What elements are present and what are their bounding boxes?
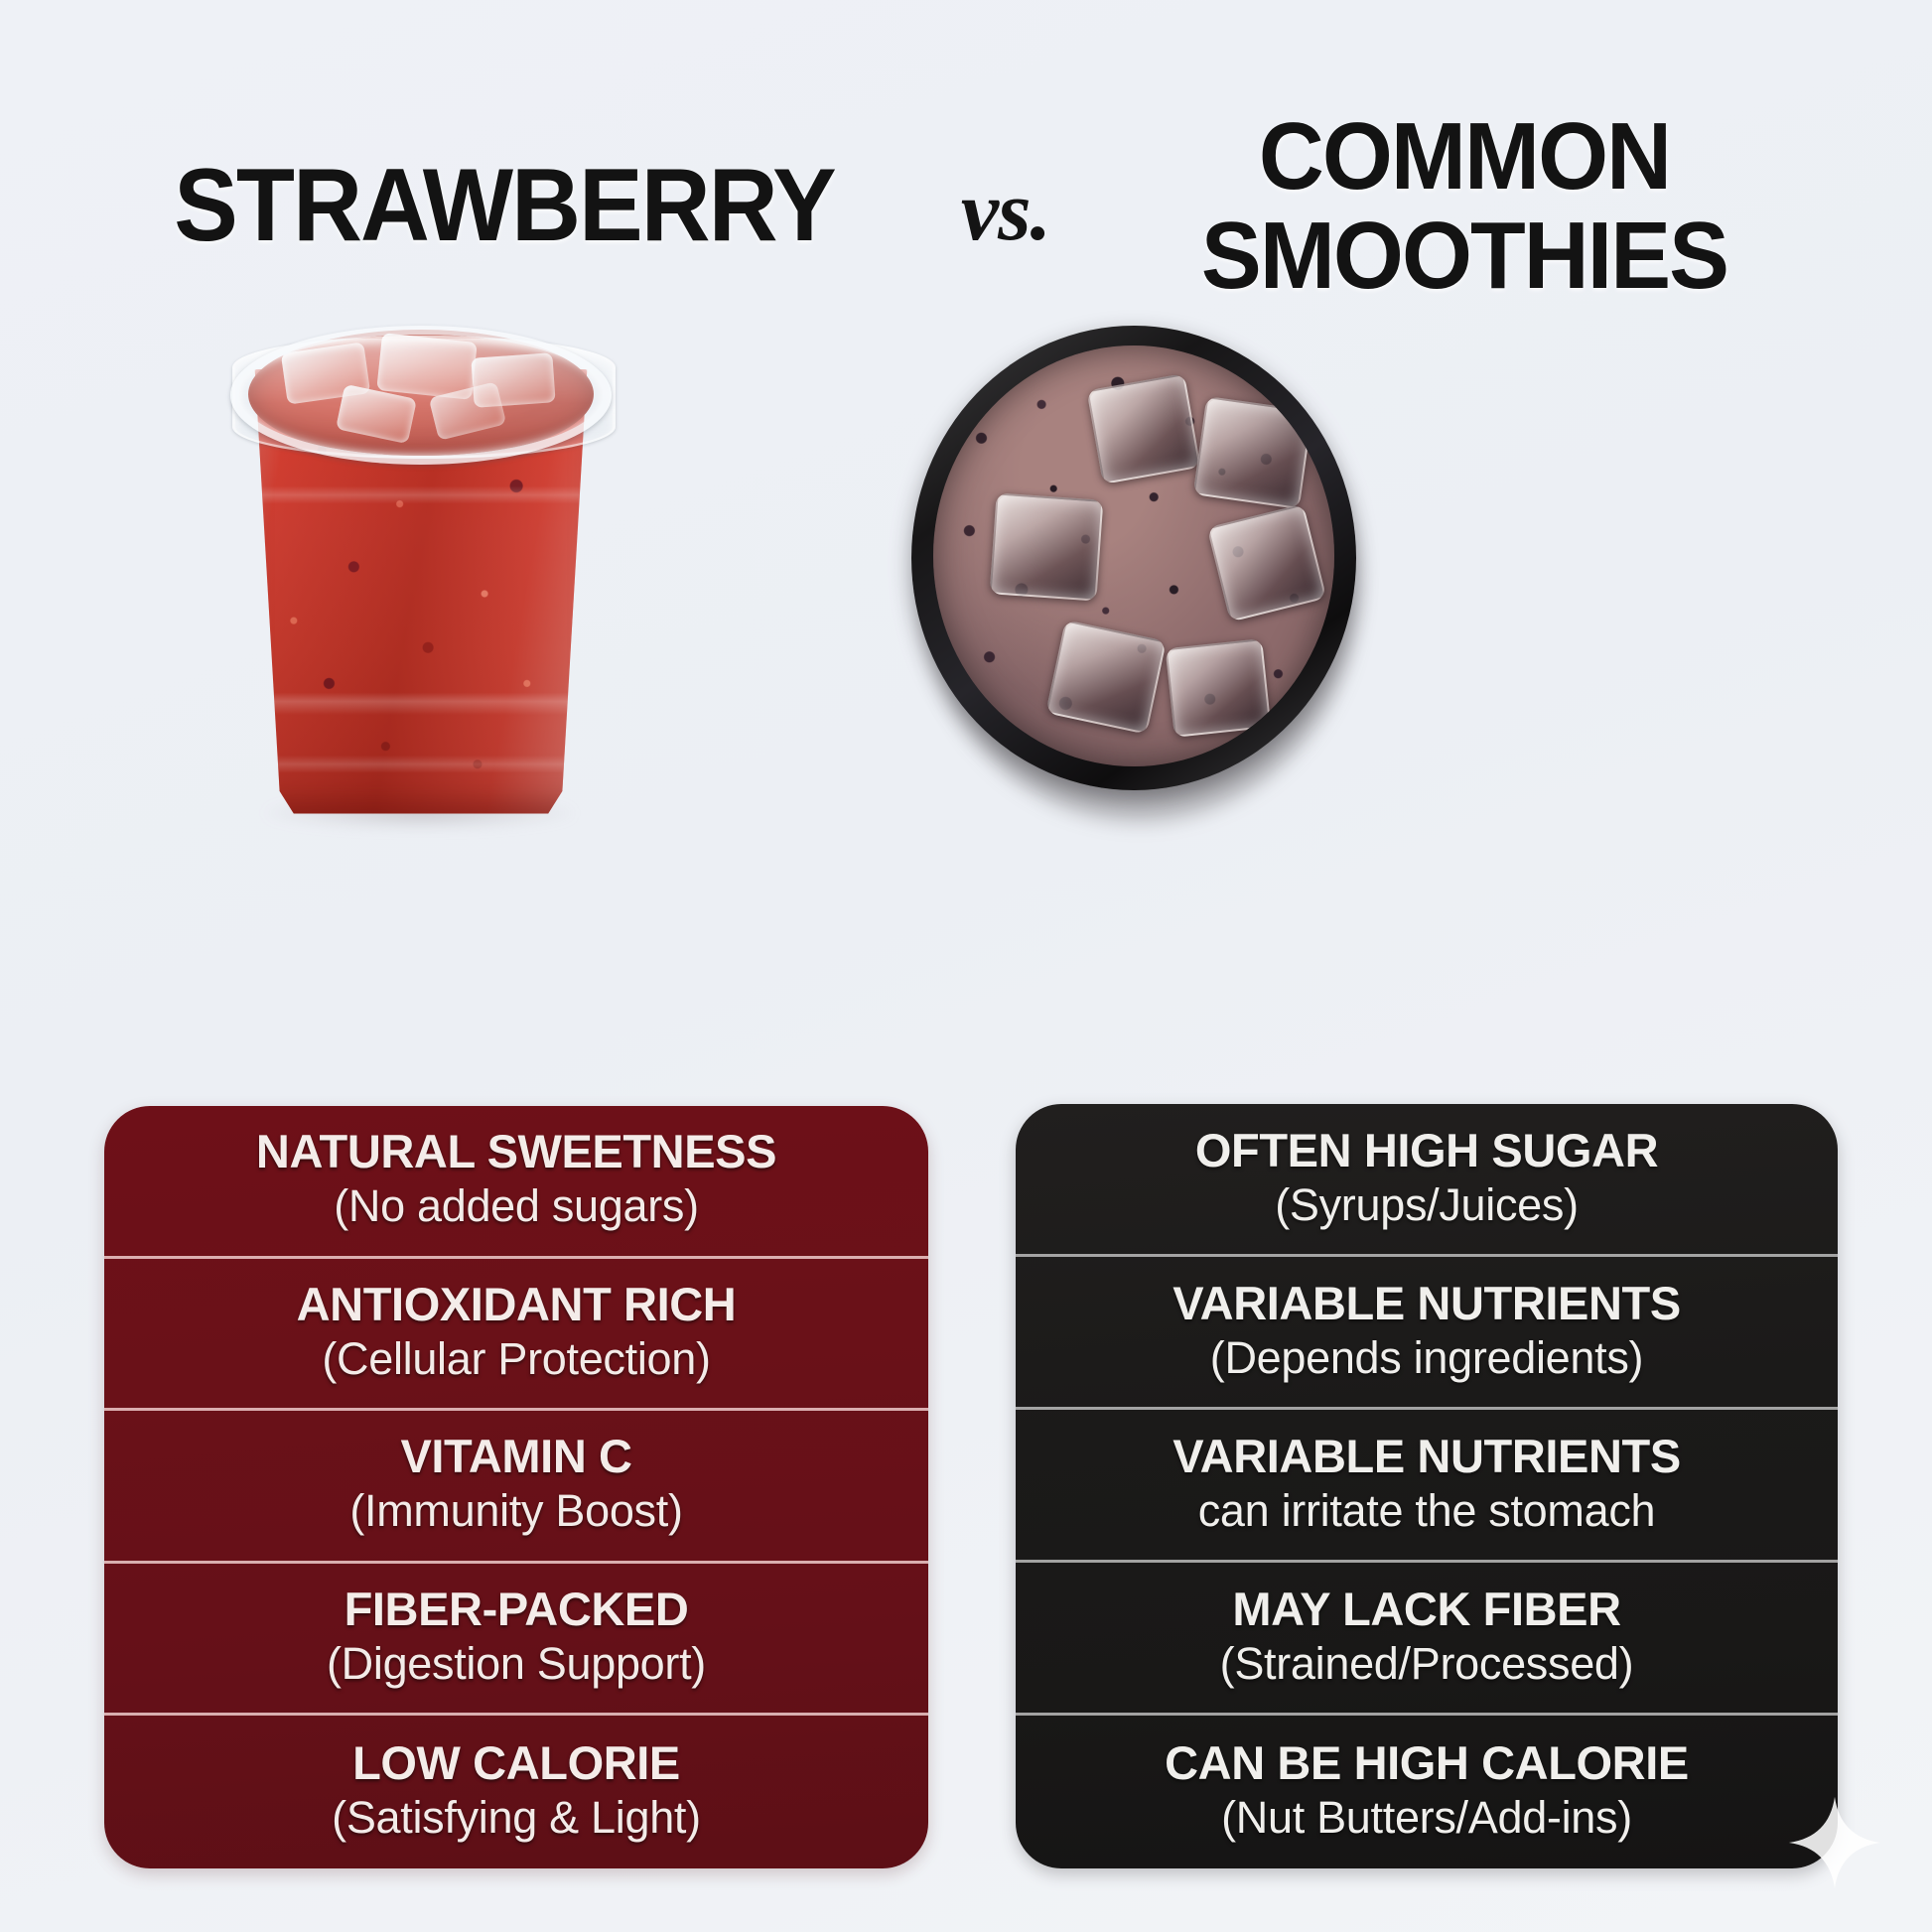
infographic-canvas: STRAWBERRY vs. COMMON SMOOTHIES — [0, 0, 1932, 1932]
common-smoothie-image — [894, 310, 1374, 850]
sparkle-icon — [1787, 1795, 1882, 1890]
benefits-panel-strawberry: NATURAL SWEETNESS (No added sugars) ANTI… — [104, 1106, 928, 1868]
benefit-row: ANTIOXIDANT RICH (Cellular Protection) — [104, 1259, 928, 1412]
ice-cube — [990, 492, 1104, 601]
drawback-row: MAY LACK FIBER (Strained/Processed) — [1016, 1563, 1838, 1716]
benefit-title: LOW CALORIE — [352, 1735, 680, 1791]
benefit-title: NATURAL SWEETNESS — [256, 1124, 776, 1179]
strawberry-smoothie-image — [226, 314, 616, 838]
smoothie-surface — [933, 345, 1334, 766]
benefit-title: VITAMIN C — [400, 1429, 631, 1484]
drawback-title: VARIABLE NUTRIENTS — [1173, 1429, 1681, 1484]
benefit-row: LOW CALORIE (Satisfying & Light) — [104, 1716, 928, 1868]
drawback-row: OFTEN HIGH SUGAR (Syrups/Juices) — [1016, 1104, 1838, 1257]
benefit-title: ANTIOXIDANT RICH — [297, 1277, 737, 1332]
drawback-title: CAN BE HIGH CALORIE — [1165, 1735, 1689, 1791]
benefit-row: VITAMIN C (Immunity Boost) — [104, 1411, 928, 1564]
headline-right-line1: COMMON — [1092, 107, 1838, 207]
drawback-subtitle: (Depends ingredients) — [1210, 1331, 1643, 1385]
drawback-row: VARIABLE NUTRIENTS can irritate the stom… — [1016, 1410, 1838, 1563]
ice-cube — [1193, 396, 1313, 509]
ice-cube — [1166, 638, 1272, 738]
headline-right-title: COMMON SMOOTHIES — [1092, 107, 1838, 306]
drawback-subtitle: (Strained/Processed) — [1220, 1637, 1634, 1691]
benefit-row: NATURAL SWEETNESS (No added sugars) — [104, 1106, 928, 1259]
drawback-row: CAN BE HIGH CALORIE (Nut Butters/Add-ins… — [1016, 1716, 1838, 1868]
drawbacks-panel-common: OFTEN HIGH SUGAR (Syrups/Juices) VARIABL… — [1016, 1104, 1838, 1868]
benefit-subtitle: (Immunity Boost) — [349, 1484, 682, 1538]
drawback-subtitle: (Nut Butters/Add-ins) — [1221, 1791, 1632, 1845]
benefit-subtitle: (Satisfying & Light) — [332, 1791, 701, 1845]
drawback-title: OFTEN HIGH SUGAR — [1195, 1123, 1658, 1178]
headline-vs-label: vs. — [931, 165, 1080, 256]
drawback-row: VARIABLE NUTRIENTS (Depends ingredients) — [1016, 1257, 1838, 1410]
benefit-subtitle: (No added sugars) — [334, 1179, 699, 1233]
benefit-row: FIBER-PACKED (Digestion Support) — [104, 1564, 928, 1717]
headline-left-title: STRAWBERRY — [126, 153, 884, 258]
drawback-subtitle: (Syrups/Juices) — [1275, 1178, 1579, 1232]
headline-right-line2: SMOOTHIES — [1092, 207, 1838, 306]
ice-cube — [1086, 373, 1200, 484]
drawback-title: VARIABLE NUTRIENTS — [1173, 1276, 1681, 1331]
cup-rim — [230, 326, 612, 465]
benefit-subtitle: (Digestion Support) — [327, 1637, 706, 1691]
drawback-subtitle: can irritate the stomach — [1198, 1484, 1656, 1538]
benefit-subtitle: (Cellular Protection) — [322, 1332, 710, 1386]
benefit-title: FIBER-PACKED — [345, 1582, 689, 1637]
drawback-title: MAY LACK FIBER — [1232, 1582, 1620, 1637]
